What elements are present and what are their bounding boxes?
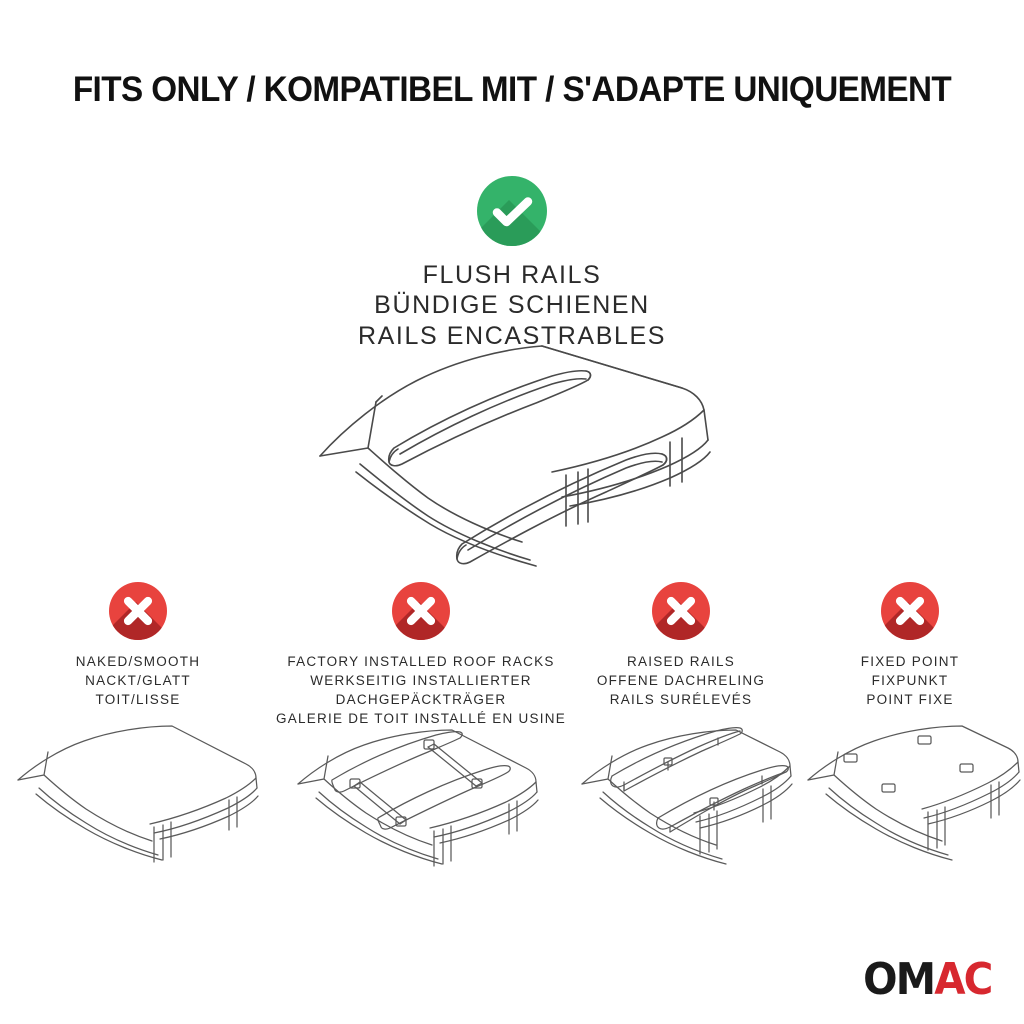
incompatible-labels-fixed-point: FIXED POINT FIXPUNKT POINT FIXE: [861, 652, 960, 709]
car-roof-with-raised-rails-illustration: [566, 722, 796, 912]
incompatible-item-fixed-point: FIXED POINT FIXPUNKT POINT FIXE: [796, 582, 1024, 709]
label-line-de-1: WERKSEITIG INSTALLIERTER: [276, 671, 566, 690]
compatible-label-en: FLUSH RAILS: [0, 260, 1024, 290]
label-line-fr: POINT FIXE: [861, 690, 960, 709]
check-circle-icon: [477, 176, 547, 246]
x-circle-icon: [392, 582, 450, 640]
x-circle-icon: [109, 582, 167, 640]
car-roof-with-flush-rails-illustration: [290, 336, 750, 571]
incompatible-item-raised-rails: RAISED RAILS OFFENE DACHRELING RAILS SUR…: [566, 582, 796, 709]
label-line-en: FIXED POINT: [861, 652, 960, 671]
page-title: FITS ONLY / KOMPATIBEL MIT / S'ADAPTE UN…: [26, 72, 999, 107]
compatibility-infographic: FITS ONLY / KOMPATIBEL MIT / S'ADAPTE UN…: [0, 0, 1024, 1024]
label-line-de: OFFENE DACHRELING: [597, 671, 765, 690]
car-roof-with-factory-crossbars-illustration: [276, 722, 566, 912]
x-circle-icon: [881, 582, 939, 640]
incompatible-labels-factory-installed-roof-racks: FACTORY INSTALLED ROOF RACKS WERKSEITIG …: [276, 652, 566, 729]
incompatible-item-naked-smooth: NAKED/SMOOTH NACKT/GLATT TOIT/LISSE: [0, 582, 276, 709]
logo-text-dark: OM: [864, 954, 935, 1005]
header: FITS ONLY / KOMPATIBEL MIT / S'ADAPTE UN…: [0, 72, 1024, 107]
x-circle-icon: [652, 582, 710, 640]
label-line-de-2: DACHGEPÄCKTRÄGER: [276, 690, 566, 709]
compatible-section: FLUSH RAILS BÜNDIGE SCHIENEN RAILS ENCAS…: [0, 176, 1024, 351]
car-roof-naked-smooth-illustration: [0, 722, 276, 912]
omac-logo: OMAC: [864, 958, 992, 1002]
incompatible-labels-raised-rails: RAISED RAILS OFFENE DACHRELING RAILS SUR…: [597, 652, 765, 709]
compatible-label-de: BÜNDIGE SCHIENEN: [0, 290, 1024, 320]
label-line-en: RAISED RAILS: [597, 652, 765, 671]
car-roof-with-fixed-points-illustration: [796, 722, 1024, 912]
incompatible-section: NAKED/SMOOTH NACKT/GLATT TOIT/LISSE FACT…: [0, 582, 1024, 729]
label-line-fr: RAILS SURÉLEVÉS: [597, 690, 765, 709]
label-line-en: NAKED/SMOOTH: [76, 652, 201, 671]
label-line-de: FIXPUNKT: [861, 671, 960, 690]
incompatible-labels-naked-smooth: NAKED/SMOOTH NACKT/GLATT TOIT/LISSE: [76, 652, 201, 709]
logo-text-red: AC: [935, 954, 992, 1005]
label-line-de: NACKT/GLATT: [76, 671, 201, 690]
label-line-en: FACTORY INSTALLED ROOF RACKS: [276, 652, 566, 671]
incompatible-item-factory-installed-roof-racks: FACTORY INSTALLED ROOF RACKS WERKSEITIG …: [276, 582, 566, 729]
label-line-fr: TOIT/LISSE: [76, 690, 201, 709]
incompatible-illustrations: [0, 722, 1024, 912]
